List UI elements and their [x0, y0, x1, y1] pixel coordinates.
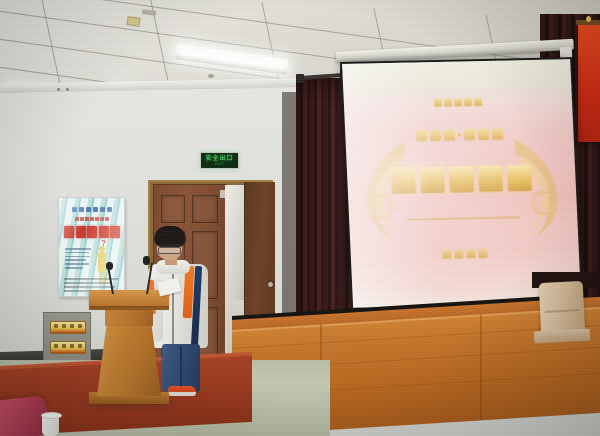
microphone-head-right[interactable] [143, 256, 150, 265]
panel-label-top [50, 321, 86, 334]
emergency-exit-sign: 安全出口 EXIT [200, 152, 239, 169]
speaker-glasses-icon [158, 247, 181, 254]
slide-subtitle [442, 249, 487, 259]
wall-fixings [57, 88, 71, 91]
door-hinge-icon [220, 190, 225, 198]
red-banner [578, 24, 600, 142]
curtain-rod-bracket [296, 74, 304, 83]
slide-line-1 [434, 98, 482, 107]
podium-pedestal [97, 324, 161, 396]
auditorium-photo: 安全出口 EXIT ? [0, 0, 600, 436]
exit-sign-sublabel: EXIT [215, 162, 224, 166]
wall-poster: ? [58, 197, 125, 297]
slide-title [391, 165, 532, 194]
smoke-detector-icon [208, 74, 214, 78]
slide-line-2 [416, 129, 504, 142]
slide-divider [407, 216, 519, 220]
panel-label-bottom [50, 341, 86, 354]
banner-tassel-icon [586, 16, 591, 22]
ceiling-speaker-icon [126, 16, 140, 27]
microphone-head-left[interactable] [106, 262, 113, 270]
door-handle-icon[interactable] [268, 282, 273, 287]
paper-cup-rim [41, 412, 62, 419]
projected-slide [342, 59, 581, 308]
speaker-shoe-sole [168, 392, 196, 396]
podium-neck [105, 310, 153, 326]
podium-top [89, 290, 169, 306]
